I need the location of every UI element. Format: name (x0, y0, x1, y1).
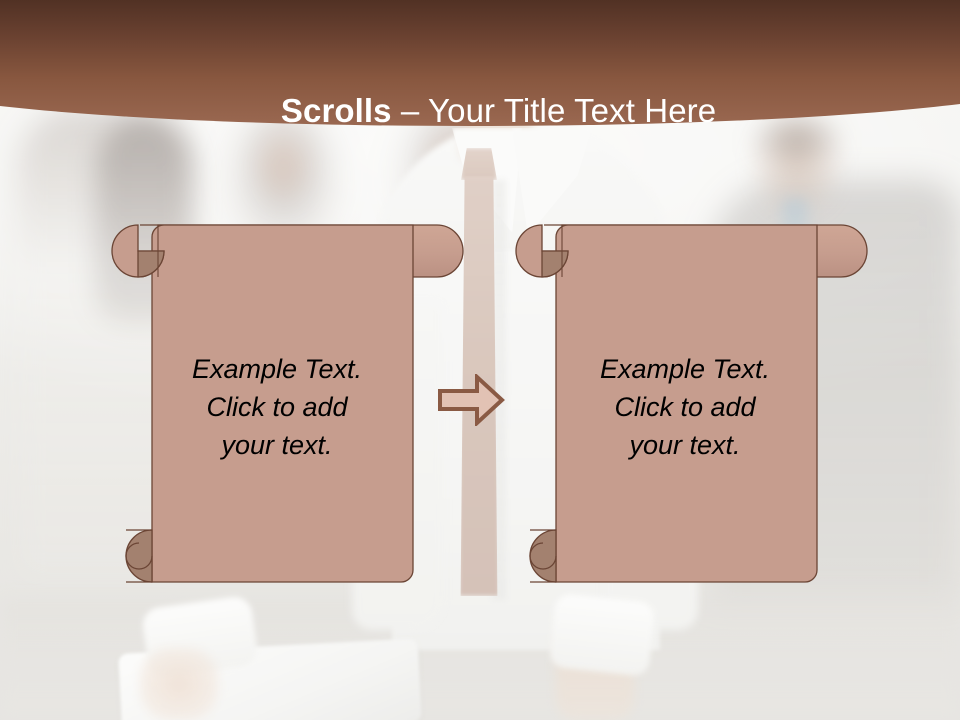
left-scroll-bottom-curl (126, 530, 152, 582)
page-title-strong: Scrolls (281, 92, 392, 129)
slide-canvas: Scrolls – Your Title Text Here (0, 0, 960, 720)
left-scroll-text[interactable]: Example Text. Click to add your text. (152, 350, 402, 464)
page-title: Scrolls – Your Title Text Here (0, 51, 960, 171)
page-title-rest: – Your Title Text Here (392, 92, 717, 129)
arrow-right-icon (437, 374, 505, 426)
right-scroll-bottom-curl (530, 530, 556, 582)
right-scroll-text[interactable]: Example Text. Click to add your text. (560, 350, 810, 464)
